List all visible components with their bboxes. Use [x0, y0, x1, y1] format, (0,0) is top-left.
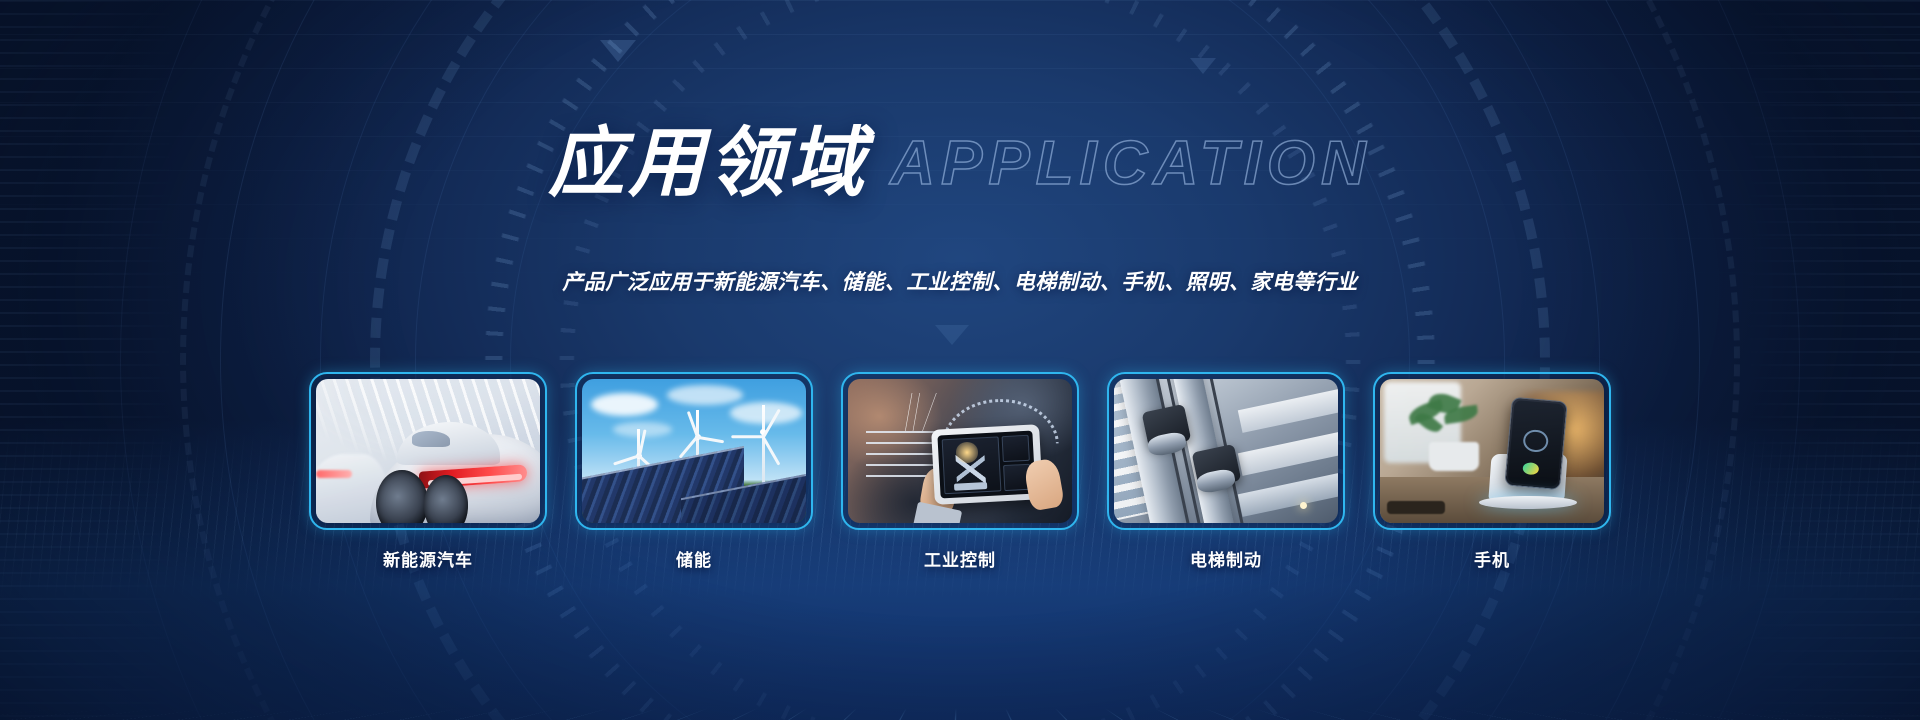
- card-frame[interactable]: [575, 372, 813, 530]
- application-card-industrial-control[interactable]: 工业控制: [841, 372, 1079, 571]
- phone-charger-image: [1380, 379, 1604, 523]
- card-label: 工业控制: [841, 546, 1079, 571]
- application-card-ev[interactable]: 新能源汽车: [309, 372, 547, 571]
- application-banner: 应用领域APPLICATION 产品广泛应用于新能源汽车、储能、工业控制、电梯制…: [0, 0, 1920, 720]
- card-label: 手机: [1373, 546, 1611, 571]
- application-card-mobile-phone[interactable]: 手机: [1373, 372, 1611, 571]
- application-card-elevator-braking[interactable]: 电梯制动: [1107, 372, 1345, 571]
- card-frame[interactable]: [309, 372, 547, 530]
- card-label: 新能源汽车: [309, 546, 547, 571]
- elevator-image: [1114, 379, 1338, 523]
- background-vignette: [0, 0, 1920, 720]
- industrial-control-image: [848, 379, 1072, 523]
- card-frame[interactable]: [841, 372, 1079, 530]
- application-card-energy-storage[interactable]: 储能: [575, 372, 813, 571]
- wind-solar-image: [582, 379, 806, 523]
- title-chinese: 应用领域: [548, 126, 868, 202]
- card-label: 电梯制动: [1107, 546, 1345, 571]
- title-english: APPLICATION: [890, 133, 1372, 195]
- card-frame[interactable]: [1107, 372, 1345, 530]
- page-title: 应用领域APPLICATION: [0, 126, 1920, 202]
- card-frame[interactable]: [1373, 372, 1611, 530]
- page-subtitle: 产品广泛应用于新能源汽车、储能、工业控制、电梯制动、手机、照明、家电等行业: [0, 266, 1920, 296]
- application-card-list: 新能源汽车: [0, 372, 1920, 571]
- ev-sports-car-image: [316, 379, 540, 523]
- card-label: 储能: [575, 546, 813, 571]
